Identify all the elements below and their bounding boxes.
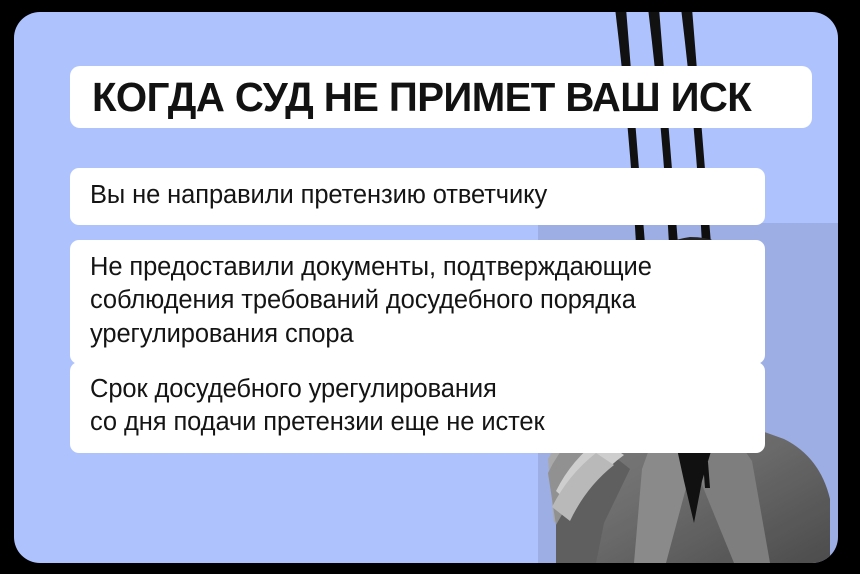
title-card: КОГДА СУД НЕ ПРИМЕТ ВАШ ИСК <box>70 66 812 128</box>
reason-line: Срок досудебного урегулирования <box>90 373 745 406</box>
blue-panel: КОГДА СУД НЕ ПРИМЕТ ВАШ ИСК Вы не направ… <box>14 12 838 563</box>
page-title: КОГДА СУД НЕ ПРИМЕТ ВАШ ИСК <box>92 77 751 118</box>
reason-card-2: Не предоставили документы, подтверждающи… <box>70 240 765 364</box>
reason-line: Не предоставили документы, подтверждающи… <box>90 251 745 284</box>
reason-card-3: Срок досудебного урегулирования со дня п… <box>70 362 765 453</box>
reason-card-1: Вы не направили претензию ответчику <box>70 168 765 225</box>
reason-line: соблюдения требований досудебного порядк… <box>90 284 745 317</box>
poster-root: КОГДА СУД НЕ ПРИМЕТ ВАШ ИСК Вы не направ… <box>0 0 860 574</box>
reason-line: урегулирования спора <box>90 318 745 351</box>
reason-line: со дня подачи претензии еще не истек <box>90 406 745 439</box>
reason-line: Вы не направили претензию ответчику <box>90 179 745 212</box>
